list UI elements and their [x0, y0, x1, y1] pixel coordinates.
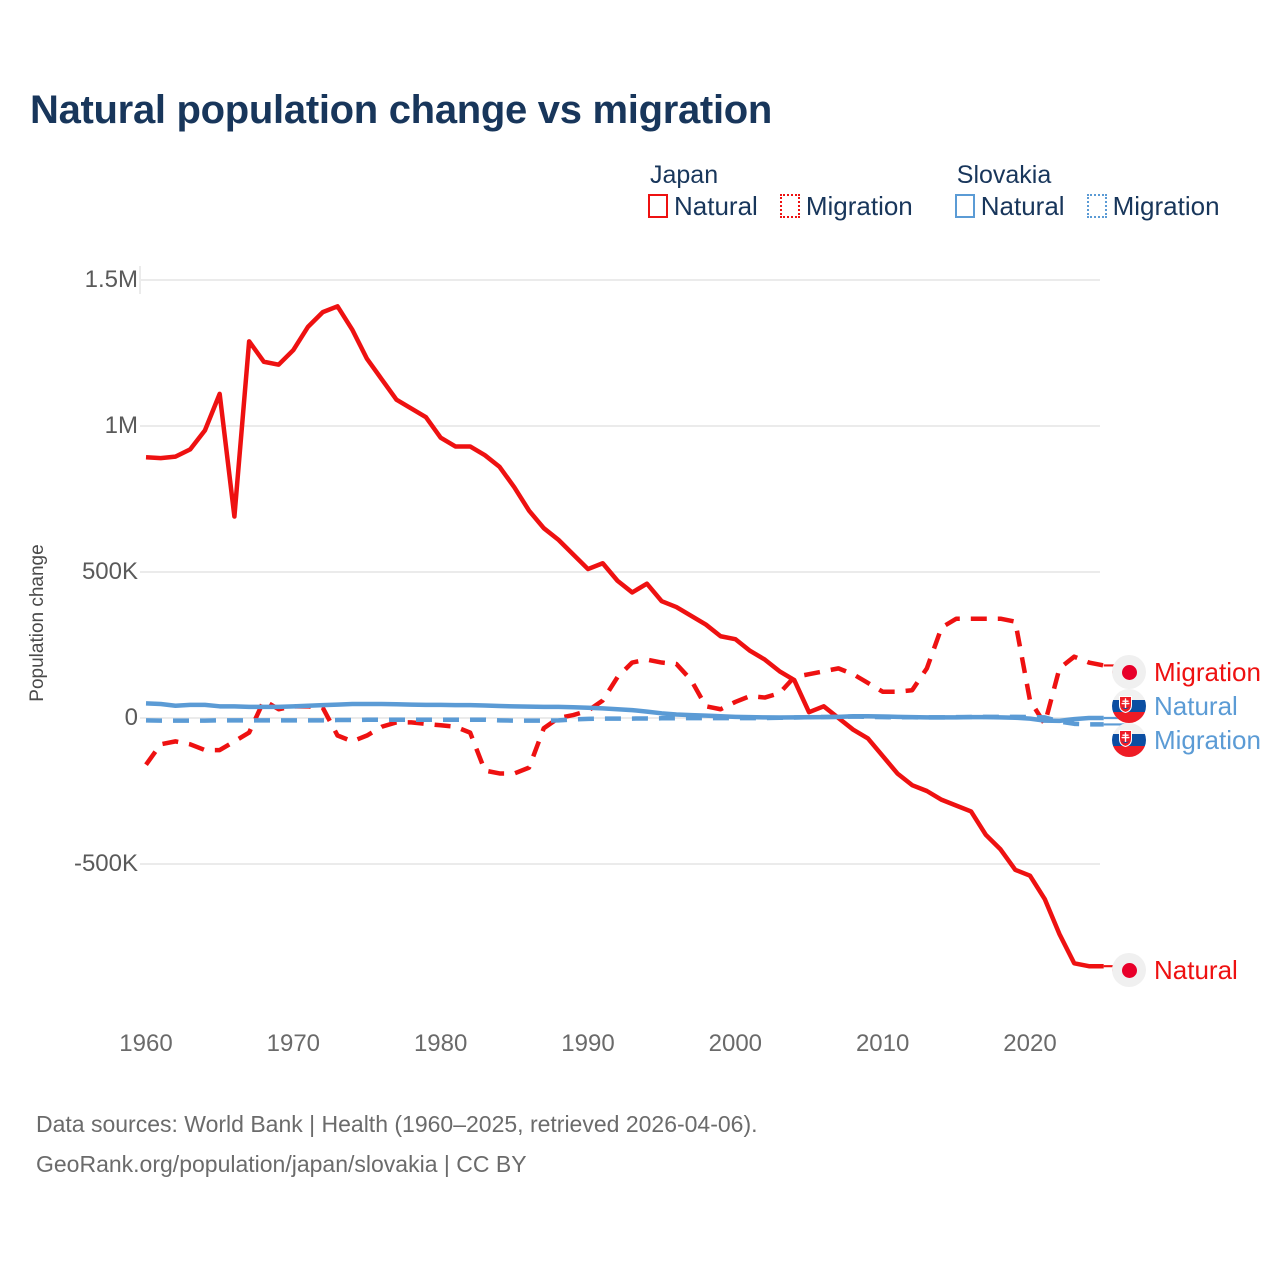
series-line-slovakia-natural	[146, 703, 1104, 721]
legend-item-slovakia-natural[interactable]: Natural	[955, 192, 1065, 220]
slovakia-coat-of-arms-icon	[1119, 730, 1132, 747]
series-line-slovakia-migration	[146, 717, 1104, 725]
chart-root: Natural population change vs migration J…	[0, 0, 1280, 1280]
legend-items-slovakia: Natural Migration	[955, 192, 1220, 220]
japan-flag-icon	[1112, 655, 1146, 689]
end-label-jp-migration[interactable]: Migration	[1112, 655, 1261, 689]
slovakia-coat-of-arms-icon	[1119, 696, 1132, 713]
slovakia-flag-icon	[1112, 689, 1146, 723]
footer-line-sources: Data sources: World Bank | Health (1960–…	[36, 1104, 758, 1144]
flag-band-red	[1112, 746, 1146, 757]
x-tick-label: 2000	[709, 1030, 762, 1058]
legend-swatch-dotted-icon	[780, 194, 800, 218]
legend-label-japan-natural: Natural	[674, 192, 758, 220]
chart-footer: Data sources: World Bank | Health (1960–…	[36, 1104, 758, 1184]
flag-band-red	[1112, 712, 1146, 723]
legend-group-japan: Japan Natural Migration	[648, 160, 913, 220]
end-label-text-sk-migration: Migration	[1154, 726, 1261, 754]
y-tick-label: -500K	[18, 850, 138, 878]
end-label-text-jp-migration: Migration	[1154, 658, 1261, 686]
legend-label-slovakia-migration: Migration	[1113, 192, 1220, 220]
legend-label-japan-migration: Migration	[806, 192, 913, 220]
legend-swatch-dotted-icon	[1087, 194, 1107, 218]
x-tick-label: 2010	[856, 1030, 909, 1058]
chart-title: Natural population change vs migration	[30, 88, 772, 133]
x-tick-label: 1960	[119, 1030, 172, 1058]
legend-items-japan: Natural Migration	[648, 192, 913, 220]
x-tick-label: 2020	[1003, 1030, 1056, 1058]
x-tick-label: 1990	[561, 1030, 614, 1058]
japan-flag-icon	[1112, 953, 1146, 987]
legend-group-slovakia: Slovakia Natural Migration	[955, 160, 1220, 220]
x-tick-label: 1970	[267, 1030, 320, 1058]
legend-swatch-solid-icon	[955, 194, 975, 218]
chart-legend: Japan Natural Migration Slovakia Natural	[648, 160, 1220, 220]
slovakia-flag-icon	[1112, 723, 1146, 757]
series-line-japan-natural	[146, 306, 1104, 966]
y-tick-label: 1M	[18, 412, 138, 440]
footer-line-attribution[interactable]: GeoRank.org/population/japan/slovakia | …	[36, 1144, 758, 1184]
end-label-text-jp-natural: Natural	[1154, 956, 1238, 984]
end-label-text-sk-natural: Natural	[1154, 692, 1238, 720]
legend-item-slovakia-migration[interactable]: Migration	[1087, 192, 1220, 220]
end-label-sk-migration[interactable]: Migration	[1112, 723, 1261, 757]
legend-label-slovakia-natural: Natural	[981, 192, 1065, 220]
y-axis-title: Population change	[27, 523, 49, 723]
series-line-japan-migration	[146, 619, 1104, 774]
y-tick-label: 1.5M	[18, 266, 138, 294]
legend-group-title-japan: Japan	[648, 160, 913, 190]
y-tick-label: 500K	[18, 558, 138, 586]
legend-item-japan-natural[interactable]: Natural	[648, 192, 758, 220]
x-tick-label: 1980	[414, 1030, 467, 1058]
legend-item-japan-migration[interactable]: Migration	[780, 192, 913, 220]
y-tick-label: 0	[18, 704, 138, 732]
end-label-jp-natural[interactable]: Natural	[1112, 953, 1238, 987]
legend-swatch-solid-icon	[648, 194, 668, 218]
end-label-sk-natural[interactable]: Natural	[1112, 689, 1238, 723]
legend-group-title-slovakia: Slovakia	[955, 160, 1220, 190]
